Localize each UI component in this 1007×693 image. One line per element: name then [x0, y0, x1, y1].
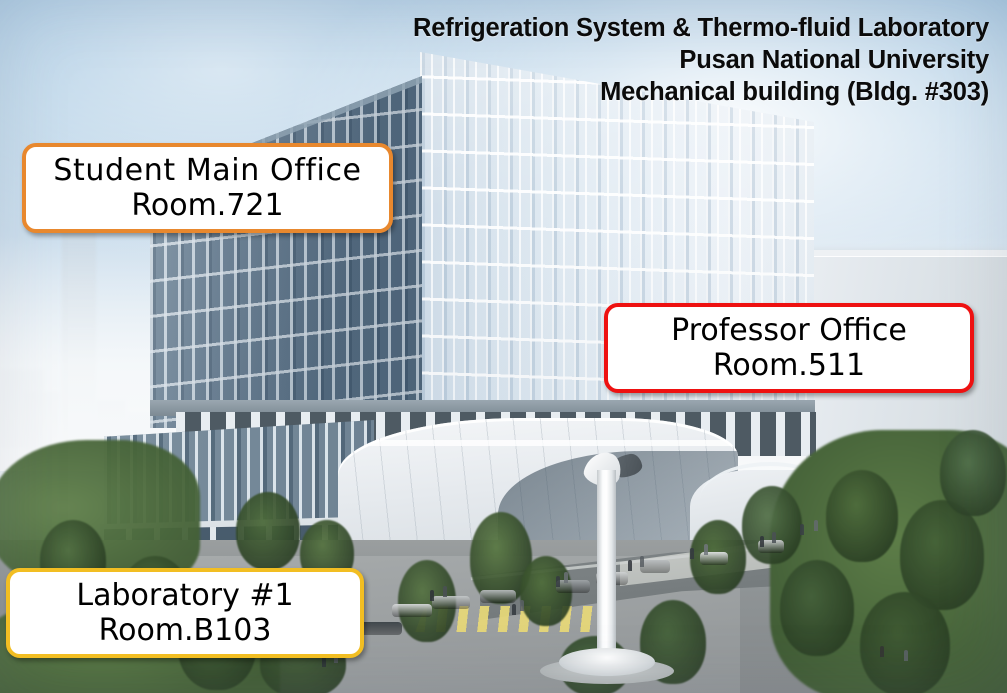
pedestrian	[904, 650, 908, 661]
slide-image: Refrigeration System & Thermo-fluid Labo…	[0, 0, 1007, 693]
car	[360, 622, 402, 635]
callout-laboratory-1[interactable]: Laboratory #1 Room.B103	[6, 568, 364, 658]
car	[556, 580, 590, 593]
pedestrian	[640, 556, 644, 567]
tree	[236, 492, 300, 570]
pedestrian	[512, 604, 516, 615]
callout-lab-line-1: Laboratory #1	[76, 578, 293, 613]
pedestrian	[556, 576, 560, 587]
car	[432, 596, 470, 609]
monument-base	[559, 648, 655, 676]
callout-student-main-office[interactable]: Student Main Office Room.721	[22, 143, 393, 233]
pedestrian	[800, 524, 804, 535]
pedestrian	[880, 646, 884, 657]
tree	[860, 592, 950, 693]
colonnade-column	[801, 412, 810, 456]
pedestrian	[520, 600, 524, 611]
pedestrian	[564, 572, 568, 583]
callout-lab-line-2: Room.B103	[99, 613, 272, 648]
tree	[940, 430, 1006, 516]
car	[640, 560, 670, 573]
pedestrian	[430, 590, 434, 601]
tree	[780, 560, 854, 656]
colonnade-column	[751, 412, 760, 456]
car	[392, 604, 432, 617]
monument-column	[597, 470, 616, 663]
pedestrian	[772, 532, 776, 543]
callout-student-line-2: Room.721	[131, 188, 283, 223]
car	[480, 590, 516, 603]
callout-student-line-1: Student Main Office	[53, 153, 361, 188]
pedestrian	[814, 520, 818, 531]
page-title: Refrigeration System & Thermo-fluid Labo…	[413, 12, 989, 108]
tree	[826, 470, 898, 562]
podium-top-shelf	[338, 440, 738, 446]
pedestrian	[443, 586, 447, 597]
title-line-3: Mechanical building (Bldg. #303)	[413, 76, 989, 108]
pedestrian	[704, 544, 708, 555]
callout-professor-line-1: Professor Office	[671, 313, 907, 348]
callout-professor-office[interactable]: Professor Office Room.511	[604, 303, 974, 393]
callout-professor-line-2: Room.511	[713, 348, 865, 383]
title-line-1: Refrigeration System & Thermo-fluid Labo…	[413, 12, 989, 44]
title-line-2: Pusan National University	[413, 44, 989, 76]
pedestrian	[760, 536, 764, 547]
pedestrian	[690, 548, 694, 559]
pedestrian	[628, 560, 632, 571]
colonnade-column	[776, 412, 785, 456]
